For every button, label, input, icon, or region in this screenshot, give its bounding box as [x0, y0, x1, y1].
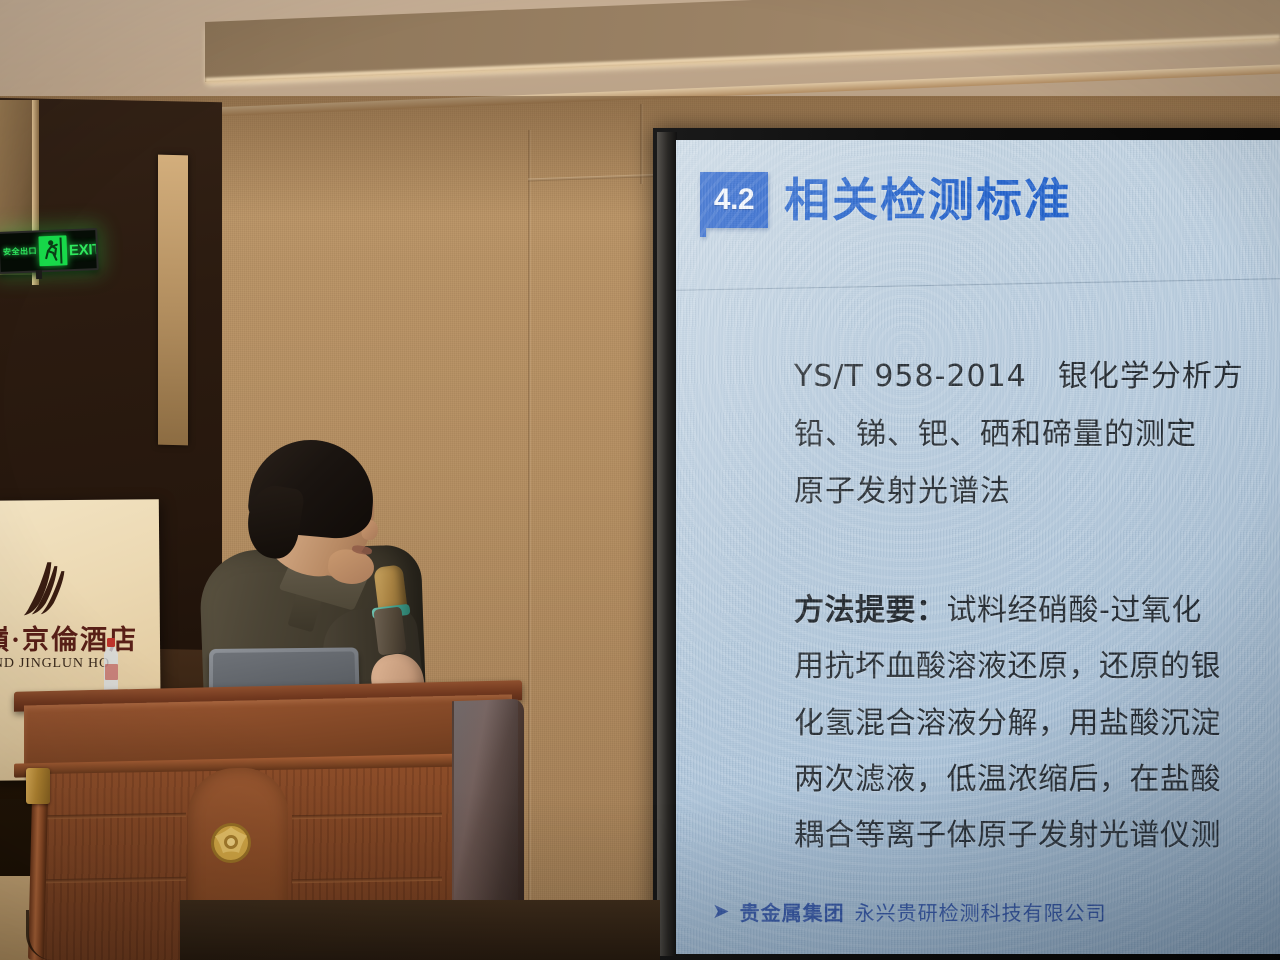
method-line: 用抗坏血酸溶液还原，还原的银: [794, 639, 1280, 695]
slide-body: YS/T 958-2014 银化学分析方 铅、锑、钯、硒和碲量的测定 原子发射光…: [794, 348, 1280, 865]
exit-door-glyph: [59, 237, 66, 263]
method-line: 化氢混合溶液分解，用盐酸沉淀: [794, 696, 1280, 752]
standard-line: 铅、锑、钯、硒和碲量的测定: [794, 406, 1280, 464]
projection-screen-bezel-highlight: [657, 132, 677, 956]
method-line: 耦合等离子体原子发射光谱仪测: [794, 808, 1280, 864]
exit-sign-chinese-label: 安全出口: [0, 247, 37, 256]
hotel-wing-logo-icon: [17, 560, 68, 618]
exit-sign: 安全出口 EXIT: [0, 228, 99, 274]
hotel-name-chinese: 嶺·京倫酒店: [0, 618, 172, 657]
running-man-icon: [38, 235, 67, 266]
footer-company: 永兴贵研检测科技有限公司: [855, 897, 1107, 926]
floor-shadow: [180, 900, 660, 960]
standard-reference-block: YS/T 958-2014 银化学分析方 铅、锑、钯、硒和碲量的测定 原子发射光…: [794, 348, 1280, 521]
method-first-line-rest: 试料经硝酸-过氧化: [947, 593, 1202, 628]
projection-screen: 4.2 相关检测标准 YS/T 958-2014 银化学分析方 铅、锑、钯、硒和…: [676, 140, 1280, 954]
standard-line: 原子发射光谱法: [794, 463, 1280, 521]
method-line: 两次滤液，低温浓缩后，在盐酸: [794, 752, 1280, 808]
method-first-line: 方法提要：试料经硝酸-过氧化: [794, 583, 1280, 639]
hotel-name-english: AND JINGLUN HO: [0, 656, 172, 672]
exit-sign-mount: [36, 270, 42, 279]
wall-panel-seam: [528, 130, 531, 960]
section-number-badge: 4.2: [700, 172, 768, 228]
podium-gold-medallion-icon: [208, 820, 254, 867]
arrow-icon: ➤: [712, 901, 730, 922]
wall-inset-strip: [158, 155, 188, 446]
standard-line: YS/T 958-2014 银化学分析方: [794, 348, 1280, 406]
footer-brand: 贵金属集团: [740, 897, 845, 926]
section-number-text: 4.2: [714, 185, 754, 215]
method-summary-block: 方法提要：试料经硝酸-过氧化 用抗坏血酸溶液还原，还原的银 化氢混合溶液分解，用…: [794, 583, 1280, 865]
exit-sign-english-label: EXIT: [69, 240, 99, 258]
microphone-body: [373, 606, 406, 655]
method-label: 方法提要：: [794, 593, 947, 628]
slide-header: 4.2 相关检测标准: [700, 172, 1072, 228]
slide-footer: ➤ 贵金属集团 永兴贵研检测科技有限公司: [712, 897, 1107, 926]
conference-presentation-photo: 安全出口 EXIT 嶺·京倫酒店 AND JINGLUN HO 4.2: [0, 0, 1280, 960]
slide-title: 相关检测标准: [784, 177, 1072, 223]
screen-seam: [676, 278, 1280, 291]
podium-column-gold-capital: [26, 768, 50, 804]
